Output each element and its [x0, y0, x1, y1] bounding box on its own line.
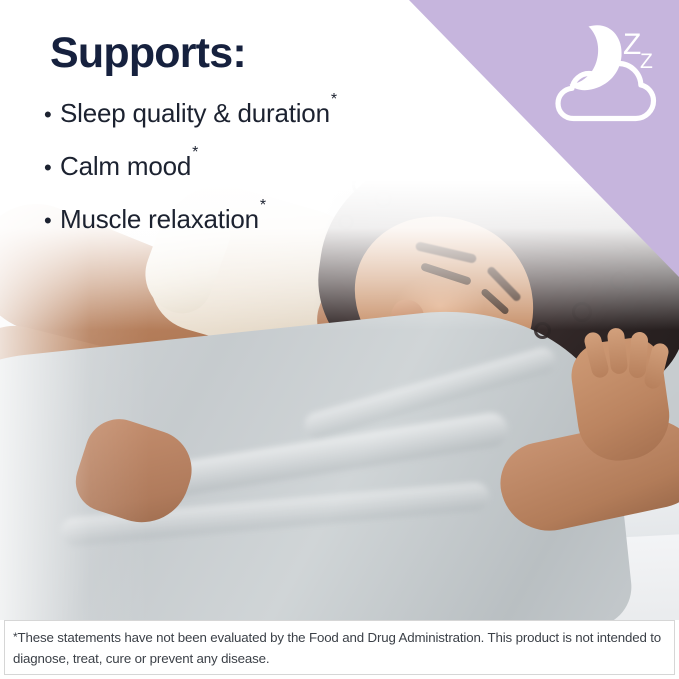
list-item: • Muscle relaxation* — [44, 204, 474, 235]
z-letter-large: Z — [623, 28, 641, 61]
benefit-label: Sleep quality & duration* — [60, 98, 337, 129]
bullet-dot-icon: • — [44, 157, 60, 179]
benefits-list: • Sleep quality & duration* • Calm mood*… — [44, 98, 474, 257]
benefit-label: Muscle relaxation* — [60, 204, 266, 235]
bullet-dot-icon: • — [44, 104, 60, 126]
bullet-dot-icon: • — [44, 210, 60, 232]
footnote-marker: * — [260, 197, 266, 214]
list-item: • Sleep quality & duration* — [44, 98, 474, 129]
footnote-marker: * — [192, 144, 198, 161]
product-benefits-card: Z Z Supports: • Sleep quality & duration… — [0, 0, 679, 679]
list-item: • Calm mood* — [44, 151, 474, 182]
fda-disclaimer-box: *These statements have not been evaluate… — [4, 620, 675, 675]
sleep-moon-cloud-icon: Z Z — [551, 18, 663, 130]
benefit-label: Calm mood* — [60, 151, 198, 182]
z-letter-small: Z — [640, 50, 653, 73]
page-title: Supports: — [50, 31, 246, 76]
footnote-marker: * — [331, 91, 337, 108]
fda-disclaimer-text: *These statements have not been evaluate… — [13, 628, 664, 669]
